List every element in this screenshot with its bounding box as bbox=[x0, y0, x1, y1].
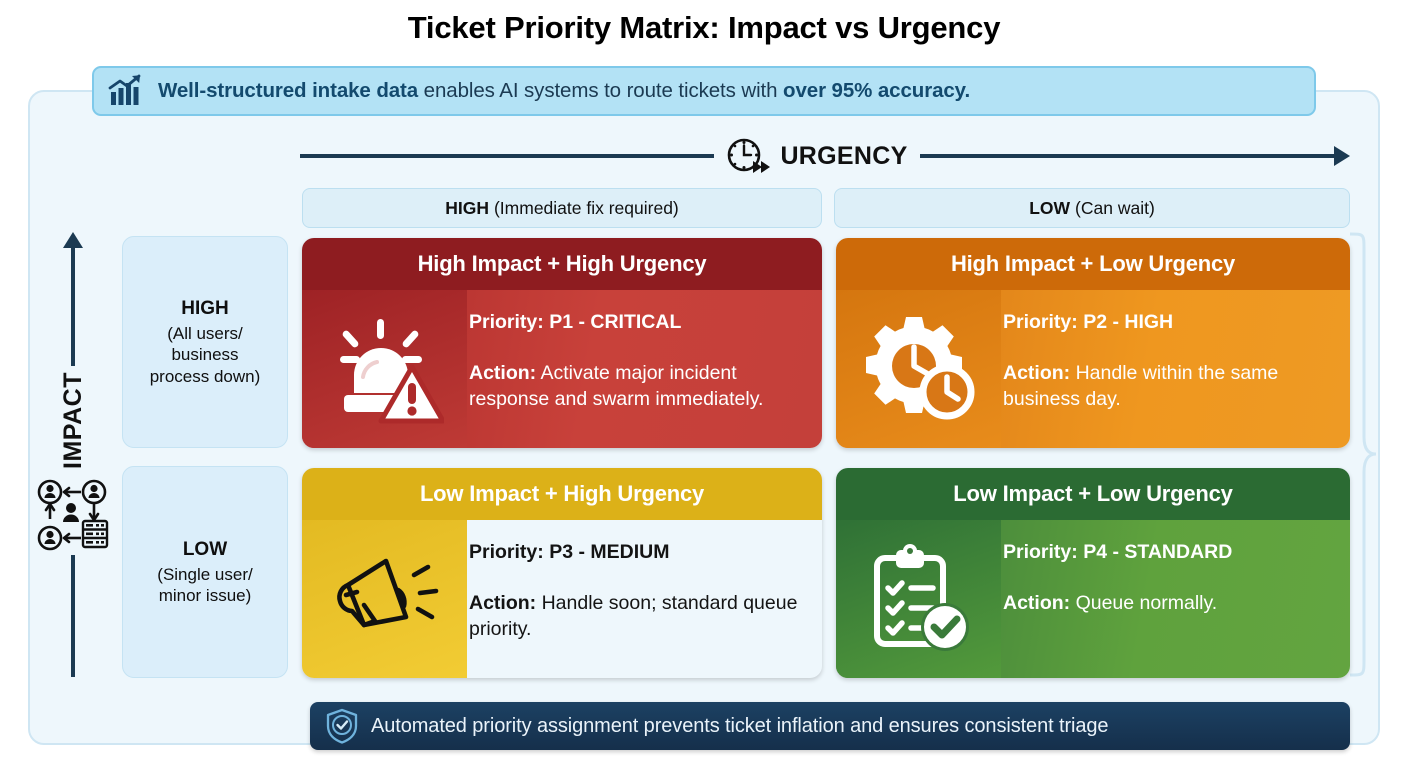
urgency-axis-line-right bbox=[920, 154, 1334, 158]
quadrant-p4-action-label: Action: bbox=[1003, 592, 1070, 614]
impact-axis-line-upper bbox=[71, 248, 75, 366]
column-header-low-level: LOW bbox=[1029, 198, 1070, 219]
infographic-root: Ticket Priority Matrix: Impact vs Urgenc… bbox=[0, 0, 1408, 768]
quadrant-p2-header: High Impact + Low Urgency bbox=[836, 238, 1350, 290]
quadrant-p1-header: High Impact + High Urgency bbox=[302, 238, 822, 290]
quadrant-card-p3[interactable]: Low Impact + High Urgency bbox=[302, 468, 822, 678]
quadrant-p3-priority-value: P3 - MEDIUM bbox=[549, 541, 669, 563]
row-label-low-level: LOW bbox=[183, 538, 227, 562]
column-header-low-urgency: LOW (Can wait) bbox=[834, 188, 1350, 228]
quadrant-p1-action-label: Action: bbox=[469, 362, 536, 384]
column-header-high-level: HIGH bbox=[445, 198, 489, 219]
row-label-high-note-1: (All users/ bbox=[167, 323, 243, 344]
row-label-low-note-1: (Single user/ bbox=[157, 564, 252, 585]
impact-axis-line-lower bbox=[71, 555, 75, 677]
row-label-high-impact: HIGH (All users/ business process down) bbox=[122, 236, 288, 448]
insight-middle: enables AI systems to route tickets with bbox=[418, 79, 783, 102]
quadrant-p2-text: Priority: P2 - HIGH Action: Handle withi… bbox=[1001, 290, 1350, 448]
urgency-axis-line-left bbox=[300, 154, 714, 158]
quadrant-p1-priority-label: Priority: bbox=[469, 311, 544, 333]
urgency-axis-arrow bbox=[1334, 146, 1350, 166]
row-label-high-note-2: business bbox=[171, 344, 238, 365]
quadrant-p4-header: Low Impact + Low Urgency bbox=[836, 468, 1350, 520]
growth-chart-icon bbox=[108, 74, 144, 108]
quadrant-p4-priority-label: Priority: bbox=[1003, 541, 1078, 563]
column-header-high-note: (Immediate fix required) bbox=[494, 198, 679, 219]
quadrant-card-p2[interactable]: High Impact + Low Urgency Priority: P bbox=[836, 238, 1350, 448]
row-label-high-level: HIGH bbox=[181, 297, 229, 321]
page-title: Ticket Priority Matrix: Impact vs Urgenc… bbox=[0, 10, 1408, 46]
column-header-high-urgency: HIGH (Immediate fix required) bbox=[302, 188, 822, 228]
clock-fast-forward-icon bbox=[726, 136, 772, 176]
quadrant-p3-action-label: Action: bbox=[469, 592, 536, 614]
shield-check-icon bbox=[326, 708, 358, 744]
gear-clock-icon bbox=[836, 290, 1001, 448]
quadrant-p4-priority-value: P4 - STANDARD bbox=[1083, 541, 1232, 563]
row-label-high-note-3: process down) bbox=[150, 366, 261, 387]
insight-lead: Well-structured intake data bbox=[158, 79, 418, 102]
row-label-low-note-2: minor issue) bbox=[159, 585, 252, 606]
insight-banner: Well-structured intake data enables AI s… bbox=[92, 66, 1316, 116]
quadrant-p2-priority-value: P2 - HIGH bbox=[1083, 311, 1173, 333]
quadrant-p1-priority-value: P1 - CRITICAL bbox=[549, 311, 681, 333]
urgency-axis: URGENCY bbox=[300, 132, 1350, 180]
footer-banner-text: Automated priority assignment prevents t… bbox=[371, 715, 1108, 738]
quadrant-p2-action-label: Action: bbox=[1003, 362, 1070, 384]
siren-alert-icon bbox=[302, 290, 467, 448]
quadrant-p1-text: Priority: P1 - CRITICAL Action: Activate… bbox=[467, 290, 822, 448]
insight-banner-text: Well-structured intake data enables AI s… bbox=[158, 79, 970, 103]
quadrant-p3-priority-label: Priority: bbox=[469, 541, 544, 563]
footer-banner: Automated priority assignment prevents t… bbox=[310, 702, 1350, 750]
quadrant-card-p4[interactable]: Low Impact + Low Urgency bbox=[836, 468, 1350, 678]
quadrant-p2-priority-label: Priority: bbox=[1003, 311, 1078, 333]
megaphone-icon bbox=[302, 520, 467, 678]
impact-axis: IMPACT bbox=[52, 232, 94, 677]
insight-emphasis: over 95% accuracy. bbox=[783, 79, 970, 102]
users-network-icon bbox=[36, 475, 110, 555]
quadrant-card-p1[interactable]: High Impact + High Urgency bbox=[302, 238, 822, 448]
impact-axis-arrow bbox=[63, 232, 83, 248]
quadrant-p4-text: Priority: P4 - STANDARD Action: Queue no… bbox=[1001, 520, 1350, 678]
column-header-low-note: (Can wait) bbox=[1075, 198, 1155, 219]
impact-axis-label: IMPACT bbox=[59, 366, 88, 475]
quadrant-p3-header: Low Impact + High Urgency bbox=[302, 468, 822, 520]
checklist-check-icon bbox=[836, 520, 1001, 678]
quadrant-p3-text: Priority: P3 - MEDIUM Action: Handle soo… bbox=[467, 520, 822, 678]
urgency-axis-label: URGENCY bbox=[780, 142, 907, 171]
quadrant-p4-action-value: Queue normally. bbox=[1076, 592, 1218, 614]
row-label-low-impact: LOW (Single user/ minor issue) bbox=[122, 466, 288, 678]
